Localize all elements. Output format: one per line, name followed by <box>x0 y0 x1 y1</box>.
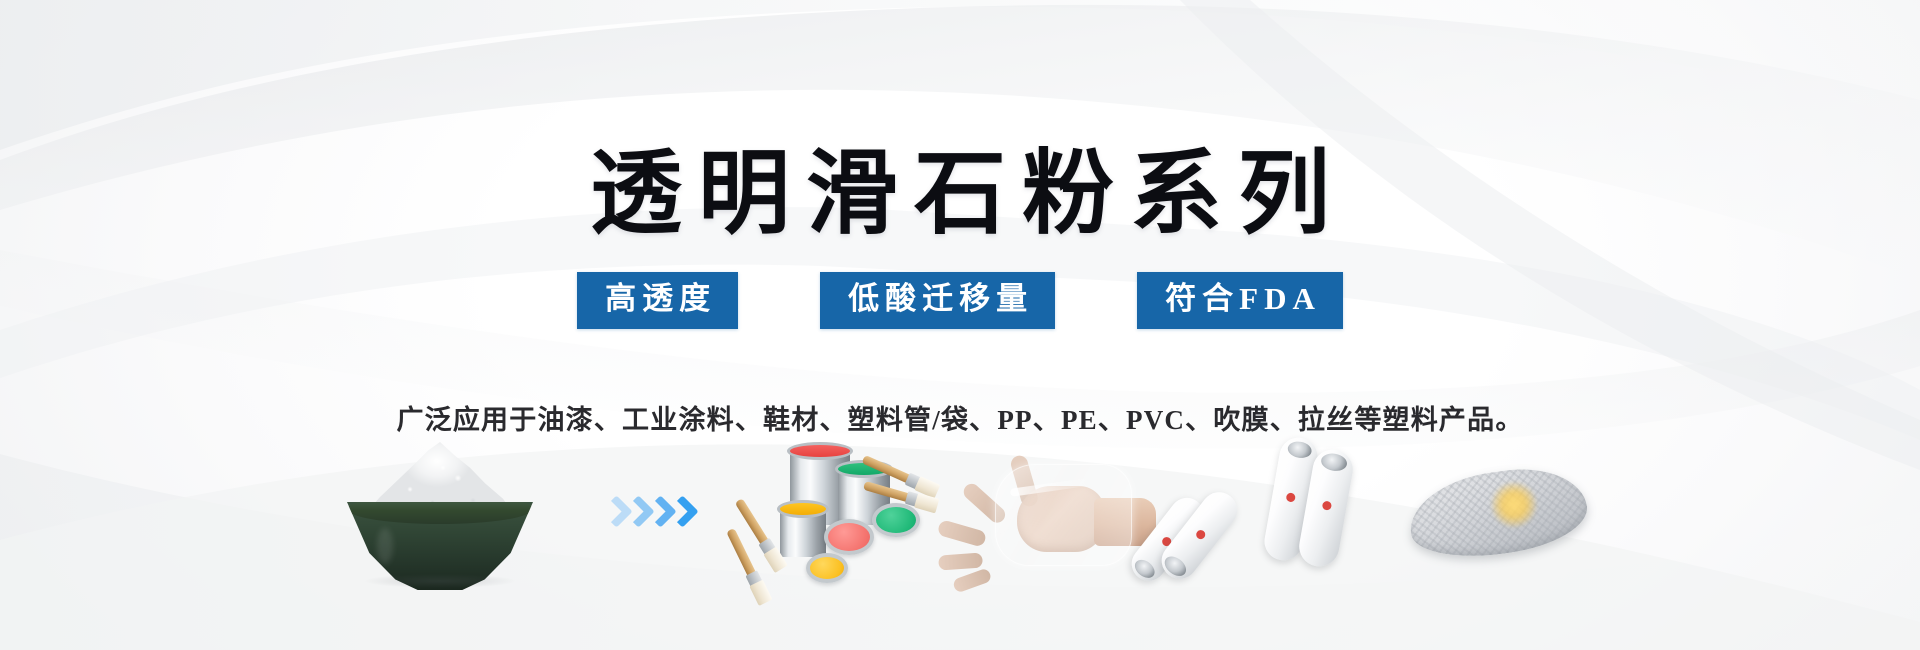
chevron-right-icon <box>669 495 688 535</box>
paint-disc-green <box>872 503 920 537</box>
paint-stage <box>738 435 943 595</box>
roll-red-mark <box>1286 492 1296 502</box>
feature-badge-list: 高透度 低酸迁移量 符合FDA <box>0 272 1920 329</box>
rolls-stage <box>1180 435 1380 595</box>
brush-handle <box>726 528 757 579</box>
finger-little <box>952 567 992 593</box>
roll-core <box>1286 440 1312 460</box>
feature-badge-high-transparency[interactable]: 高透度 <box>577 272 738 329</box>
chevron-arrow-group <box>603 495 688 535</box>
paint-disc-pink <box>824 519 874 555</box>
glove-stage <box>965 440 1160 590</box>
paint-can-yellow <box>780 509 826 557</box>
page-title: 透明滑石粉系列 <box>574 146 1346 243</box>
roll-core <box>1320 452 1349 473</box>
shoe-sole <box>1404 460 1592 566</box>
feature-badge-low-acid-migration[interactable]: 低酸迁移量 <box>820 272 1055 329</box>
plastic-film-rolls-image <box>1170 430 1390 600</box>
bowl-stage <box>335 440 545 590</box>
product-banner: 透明滑石粉系列 高透度 低酸迁移量 符合FDA 广泛应用于油漆、工业涂料、鞋材、… <box>0 0 1920 650</box>
finger-ring <box>938 553 983 571</box>
transparent-glove-overlay <box>995 464 1132 566</box>
sole-stage <box>1403 450 1593 580</box>
paint-lid-red <box>787 442 853 460</box>
roll-red-mark <box>1194 528 1207 541</box>
chevron-right-icon <box>647 495 666 535</box>
bowl-shadow <box>365 574 515 588</box>
roll-red-mark <box>1322 500 1332 510</box>
paint-disc-yellow <box>806 553 848 583</box>
product-application-strip <box>0 430 1920 600</box>
paint-lid-yellow <box>777 500 829 518</box>
process-arrows <box>565 430 725 600</box>
brush-bristles <box>749 580 772 606</box>
talc-powder-bowl-image <box>315 430 565 600</box>
chevron-right-icon <box>603 495 622 535</box>
shoe-sole-image <box>1390 430 1605 600</box>
chevron-right-icon <box>625 495 644 535</box>
paint-cans-image <box>725 430 955 600</box>
feature-badge-fda-compliant[interactable]: 符合FDA <box>1137 272 1343 329</box>
title-container: 透明滑石粉系列 <box>0 84 1920 304</box>
